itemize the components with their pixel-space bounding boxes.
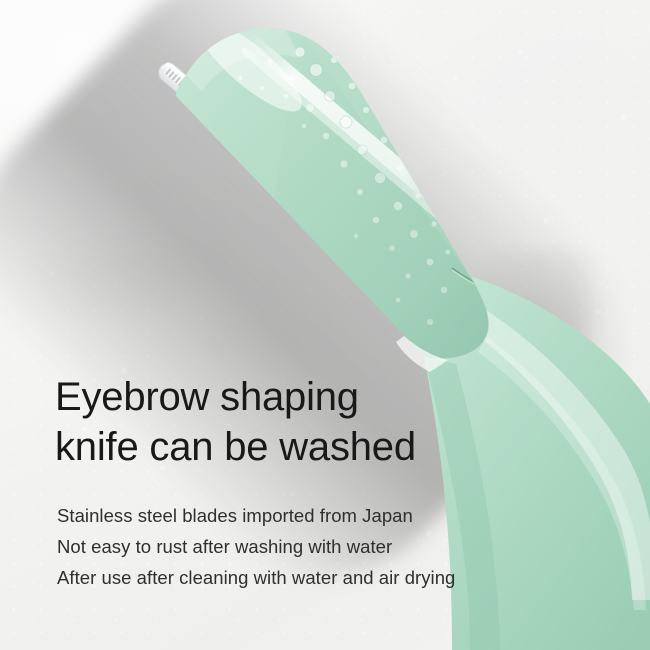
- feature-list: Stainless steel blades imported from Jap…: [57, 500, 627, 593]
- headline-line-2: knife can be washed: [55, 422, 615, 472]
- feature-item: After use after cleaning with water and …: [57, 562, 627, 593]
- headline-line-1: Eyebrow shaping: [55, 372, 615, 422]
- page-title: Eyebrow shaping knife can be washed: [55, 372, 615, 472]
- feature-item: Stainless steel blades imported from Jap…: [57, 500, 627, 531]
- product-marketing-image: Eyebrow shaping knife can be washed Stai…: [0, 0, 650, 650]
- feature-item: Not easy to rust after washing with wate…: [57, 531, 627, 562]
